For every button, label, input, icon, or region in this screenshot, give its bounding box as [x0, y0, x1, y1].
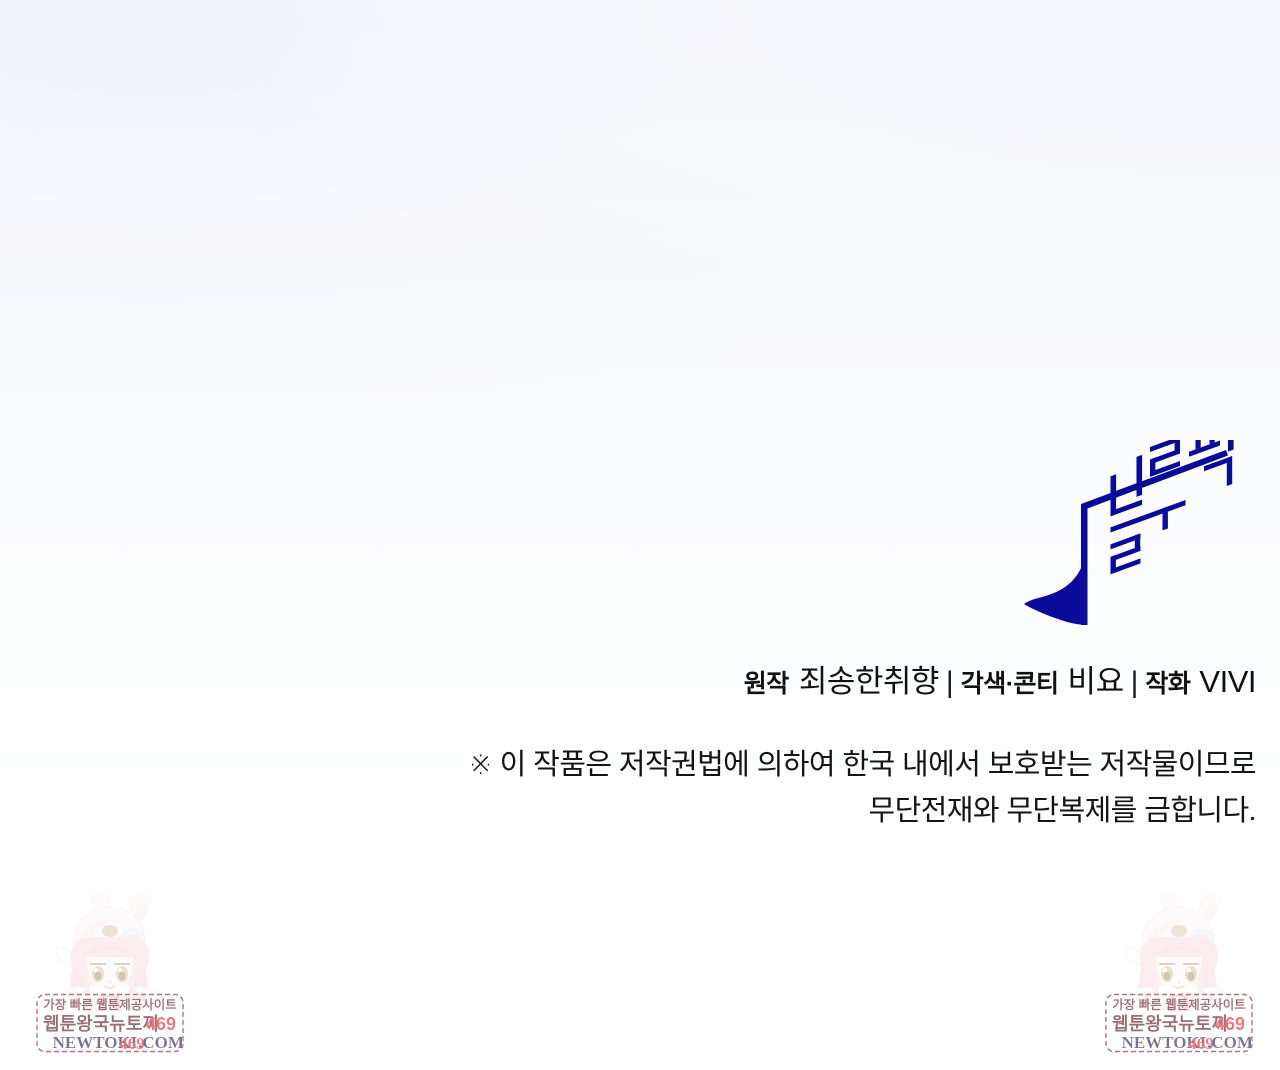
credits-line: 원작죄송한취향|각색·콘티비요|작화VIVI: [0, 666, 1256, 698]
watermark-right: 가장 빠른 웹툰제공사이트 웹툰왕국뉴토끼 469 NEWTOKI 469 .C…: [1104, 893, 1254, 1058]
credit-name-art: VIVI: [1199, 664, 1256, 699]
credit-role-art: 작화: [1145, 670, 1190, 698]
credit-role-original: 원작: [744, 670, 789, 698]
svg-text:469: 469: [146, 1014, 176, 1034]
credit-separator-1: |: [939, 666, 961, 699]
svg-text:가장 빠른 웹툰제공사이트: 가장 빠른 웹툰제공사이트: [1112, 997, 1246, 1012]
webtoon-credits-page: 원작죄송한취향|각색·콘티비요|작화VIVI ※ 이 작품은 저작권법에 의하여…: [0, 0, 1280, 1070]
copyright-line-2: 무단전재와 무단복제를 금합니다.: [300, 788, 1256, 834]
svg-text:.COM: .COM: [138, 1033, 184, 1052]
credit-name-adaptation: 비요: [1068, 664, 1124, 699]
svg-text:가장 빠른 웹툰제공사이트: 가장 빠른 웹툰제공사이트: [43, 997, 177, 1012]
credit-name-original: 죄송한취향: [799, 664, 939, 699]
watermark-text: 가장 빠른 웹툰제공사이트 웹툰왕국뉴토끼 469 NEWTOKI 469 .C…: [1104, 993, 1254, 1055]
publisher-logo: [1018, 440, 1240, 625]
svg-text:.COM: .COM: [1207, 1033, 1253, 1052]
credit-separator-2: |: [1124, 666, 1146, 699]
svg-text:469: 469: [1215, 1014, 1245, 1034]
copyright-notice: ※ 이 작품은 저작권법에 의하여 한국 내에서 보호받는 저작물이므로 무단전…: [300, 742, 1256, 834]
svg-text:웹툰왕국뉴토끼: 웹툰왕국뉴토끼: [1112, 1014, 1228, 1034]
watermark-left: 가장 빠른 웹툰제공사이트 웹툰왕국뉴토끼 469 NEWTOKI 469 .C…: [35, 893, 185, 1058]
watermark-text: 가장 빠른 웹툰제공사이트 웹툰왕국뉴토끼 469 NEWTOKI 469 .C…: [35, 993, 185, 1055]
svg-text:웹툰왕국뉴토끼: 웹툰왕국뉴토끼: [43, 1014, 159, 1034]
credit-role-adaptation: 각색·콘티: [961, 670, 1059, 698]
copyright-line-1: ※ 이 작품은 저작권법에 의하여 한국 내에서 보호받는 저작물이므로: [300, 742, 1256, 788]
